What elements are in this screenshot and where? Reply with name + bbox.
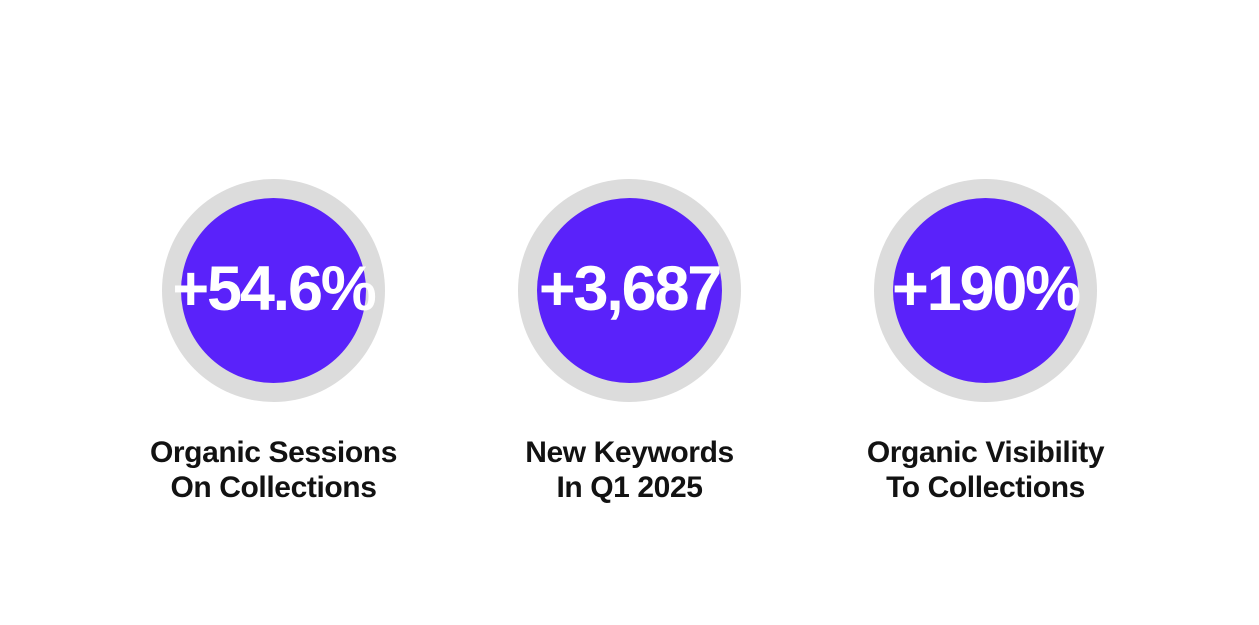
donut-ring-new-keywords: +3,687	[518, 179, 741, 402]
stats-row: +54.6% Organic Sessions On Collections +…	[0, 0, 1259, 625]
stat-label-line2: In Q1 2025	[525, 470, 734, 505]
donut-fill-organic-sessions: +54.6%	[181, 198, 366, 383]
stat-value-organic-visibility: +190%	[892, 258, 1079, 321]
donut-ring-organic-sessions: +54.6%	[162, 179, 385, 402]
stat-label-new-keywords: New Keywords In Q1 2025	[525, 435, 734, 505]
donut-fill-new-keywords: +3,687	[537, 198, 722, 383]
stat-card-organic-sessions: +54.6% Organic Sessions On Collections	[96, 0, 452, 505]
stat-value-new-keywords: +3,687	[539, 258, 720, 321]
donut-ring-organic-visibility: +190%	[874, 179, 1097, 402]
stat-label-line1: Organic Visibility	[867, 436, 1104, 469]
stat-label-organic-visibility: Organic Visibility To Collections	[867, 435, 1104, 505]
stats-board: +54.6% Organic Sessions On Collections +…	[0, 0, 1259, 625]
stat-value-organic-sessions: +54.6%	[172, 258, 374, 321]
stat-label-line2: To Collections	[867, 470, 1104, 505]
donut-fill-organic-visibility: +190%	[893, 198, 1078, 383]
stat-label-organic-sessions: Organic Sessions On Collections	[150, 435, 397, 505]
stat-label-line1: Organic Sessions	[150, 436, 397, 469]
stat-card-organic-visibility: +190% Organic Visibility To Collections	[808, 0, 1164, 505]
stat-label-line1: New Keywords	[525, 436, 734, 469]
stat-label-line2: On Collections	[150, 470, 397, 505]
stat-card-new-keywords: +3,687 New Keywords In Q1 2025	[452, 0, 808, 505]
